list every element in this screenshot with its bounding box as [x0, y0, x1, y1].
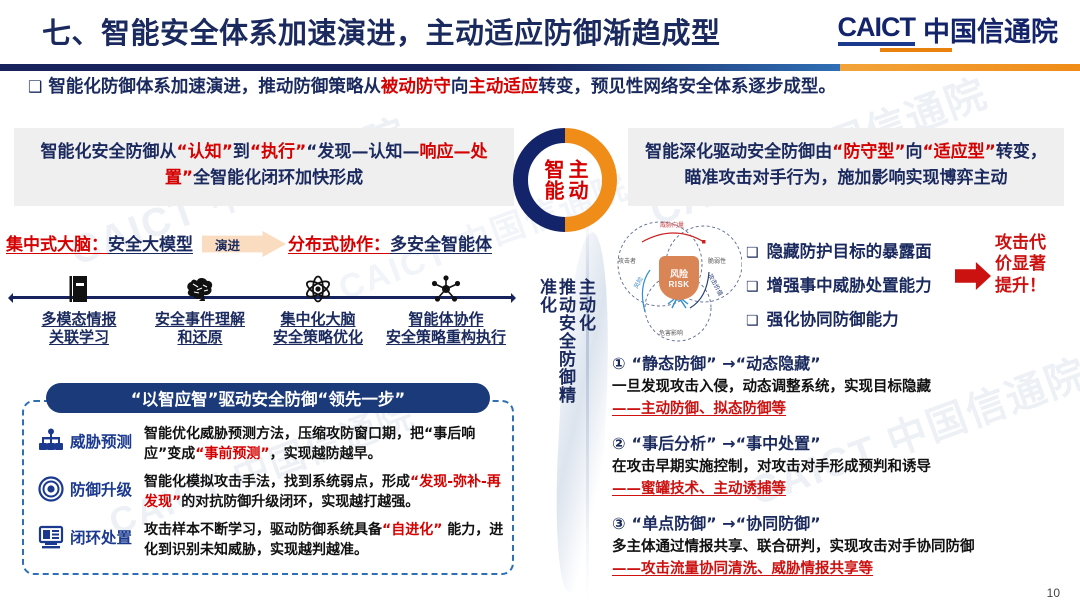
defense-row-1-tag: 威胁预测 — [70, 424, 144, 452]
evolution-right-heading: 分布式协作：多安全智能体 — [288, 230, 492, 255]
logo-cn-text: 中国信通院 — [923, 19, 1058, 46]
timeline-label-3-line1: 集中化大脑 — [280, 310, 355, 328]
left-box-text-d: 全智能化闭环加快形成 — [193, 168, 363, 188]
timeline-label-1: 多模态情报 关联学习 — [14, 310, 144, 346]
numbered-block-2-head: ②“事后分析” →“事中处置” — [612, 430, 1080, 454]
logo-underline-accent — [880, 48, 952, 52]
numbered-block-2-body: 在攻击早期实施控制，对攻击对手形成预判和诱导 — [612, 457, 1080, 478]
evolution-left-heading: 集中式大脑：安全大模型 — [6, 230, 193, 255]
defense-row-3-text-a: 攻击样本不断学习，驱动防御系统具备 — [144, 522, 382, 538]
checklist-item-2: ❑增强事中威胁处置能力 — [746, 272, 932, 296]
numbered-block-1-foot: ——主动防御、拟态防御等 — [612, 399, 1080, 419]
right-box-red-1: “防守型” — [832, 142, 905, 162]
venn-center-risk: 风险 RISK — [659, 256, 699, 300]
logo-en-text: CAICT — [838, 14, 916, 46]
checklist-item-3: ❑强化协同防御能力 — [746, 306, 899, 330]
defense-row-3-tag: 闭环处置 — [70, 520, 144, 548]
evolution-arrow: 演进 — [202, 231, 286, 257]
checklist-item-3-label: 强化协同防御能力 — [767, 310, 899, 329]
defense-row-2-text: 智能化模拟攻击手法，找到系统弱点，形成“发现-弥补-再发现”的对抗防御升级闭环，… — [144, 472, 510, 513]
numbered-block-2: ②“事后分析” →“事中处置” 在攻击早期实施控制，对攻击对手形成预判和诱导 —… — [612, 430, 1080, 499]
right-box-red-2: “适应型” — [923, 142, 996, 162]
callout-line-2: 价显著 — [995, 254, 1046, 274]
page-number: 10 — [1047, 586, 1060, 600]
target-icon — [32, 472, 70, 502]
timeline-label-2-line2: 和还原 — [177, 328, 222, 346]
venn-risk-cn: 风险 — [670, 267, 688, 280]
numbered-block-2-number: ② — [612, 434, 626, 453]
arrow-right-icon: → — [722, 434, 735, 453]
evolution-right-key: 分布式协作： — [288, 235, 390, 255]
monitor-icon — [32, 520, 70, 550]
vertical-caption-col2: 主动化 — [575, 278, 594, 408]
numbered-block-1-to: “动态隐藏” — [736, 354, 821, 373]
checkbox-icon: ❑ — [746, 279, 759, 295]
timeline-item-2: 安全事件理解 和还原 — [135, 274, 265, 346]
defense-row-2-text-a: 智能化模拟攻击手法，找到系统弱点，形成 — [144, 474, 410, 490]
numbered-block-3-foot: ——攻击流量协同清洗、威胁情报共享等 — [612, 559, 1080, 579]
ring-label-proactive: 主动 — [567, 159, 587, 201]
center-ring-graphic: 智能 主动 — [513, 128, 617, 232]
numbered-block-2-foot: ——蜜罐技术、主动诱捕等 — [612, 479, 1080, 499]
checklist-item-2-label: 增强事中威胁处置能力 — [767, 276, 932, 295]
caict-logo: CAICT 中国信通院 — [838, 14, 1059, 46]
right-box-text-a: 智能深化驱动安全防御由 — [645, 142, 832, 162]
ring-label-group: 智能 主动 — [513, 128, 617, 232]
brain-icon — [135, 274, 265, 304]
defense-row-threat-prediction: 威胁预测 智能优化威胁预测方法，压缩攻防窗口期，把“事后响应”变成“事前预测”，… — [32, 424, 510, 465]
evolution-left-value: 安全大模型 — [108, 235, 193, 255]
header-divider — [0, 64, 1080, 71]
timeline-label-1-line2: 关联学习 — [49, 328, 109, 346]
subtitle-highlight-2: 主动适应 — [468, 77, 538, 97]
atom-icon — [253, 274, 383, 304]
timeline-item-1: 多模态情报 关联学习 — [14, 274, 144, 346]
network-icon — [375, 274, 517, 304]
subtitle-part2: 转变，预见性网络安全体系逐步成型。 — [538, 77, 836, 97]
left-box-red-2: “执行” — [250, 142, 306, 162]
timeline-label-2: 安全事件理解 和还原 — [135, 310, 265, 346]
left-box-text-c: “发现—认知— — [306, 142, 419, 162]
server-icon — [14, 274, 144, 304]
timeline-label-3-line2: 安全策略优化 — [273, 328, 363, 346]
timeline-label-4-line2: 安全策略重构执行 — [386, 328, 506, 346]
checkbox-icon: ❑ — [746, 245, 759, 261]
evolution-right-value: 多安全智能体 — [390, 235, 492, 255]
callout-line-3: 提升！ — [995, 276, 1046, 296]
red-arrow-icon — [955, 262, 991, 290]
risk-venn-diagram: 风险 RISK 攻击者 脆弱性 危害影响 威胁向量 风险 攻击价值 — [612, 216, 742, 344]
defense-row-2-tag: 防御升级 — [70, 472, 144, 500]
vertical-caption: 推动安全防御精准化 主动化 — [519, 278, 611, 408]
left-box-red-1: “认知” — [177, 142, 233, 162]
callout-line-1: 攻击代 — [995, 233, 1046, 253]
timeline-label-4: 智能体协作 安全策略重构执行 — [375, 310, 517, 346]
evolution-left-key: 集中式大脑： — [6, 235, 108, 255]
venn-arc-label-threat-vector: 威胁向量 — [660, 220, 684, 229]
venn-label-impact: 危害影响 — [659, 328, 683, 337]
red-arrow-shape — [955, 262, 991, 290]
checklist-item-1: ❑隐藏防护目标的暴露面 — [746, 238, 932, 262]
numbered-block-1: ①“静态防御” →“动态隐藏” 一旦发现攻击入侵，动态调整系统，实现目标隐藏 —… — [612, 350, 1080, 419]
attack-cost-callout: 攻击代 价显著 提升！ — [995, 233, 1077, 297]
left-box-text-b: 到 — [233, 142, 250, 162]
numbered-block-3-to: “协同防御” — [736, 514, 821, 533]
venn-label-attacker: 攻击者 — [618, 256, 636, 265]
checklist-item-1-label: 隐藏防护目标的暴露面 — [767, 242, 932, 261]
org-chart-icon — [32, 424, 70, 454]
right-box-text-c: 转 — [996, 142, 1013, 162]
defense-row-3-text: 攻击样本不断学习，驱动防御系统具备“自进化” 能力，进化到识别未知威胁，实现越判… — [144, 520, 510, 561]
numbered-block-3-number: ③ — [612, 514, 626, 533]
numbered-block-2-to: “事中处置” — [736, 434, 821, 453]
left-summary-box: 智能化安全防御从“认知”到“执行”“发现—认知—响应—处置”全智能化闭环加快形成 — [14, 128, 514, 206]
right-summary-box: 智能深化驱动安全防御由“防守型”向“适应型”转变，瞄准攻击对手行为，施加影响实现… — [628, 128, 1064, 206]
timeline-label-4-line1: 智能体协作 — [408, 310, 483, 328]
numbered-block-2-from: “事后分析” — [632, 434, 717, 453]
smart-defense-band-title: “以智应智”驱动安全防御“领先一步” — [46, 383, 490, 413]
timeline-item-4: 智能体协作 安全策略重构执行 — [375, 274, 517, 346]
evolution-arrow-label: 演进 — [202, 231, 286, 257]
timeline-item-3: 集中化大脑 安全策略优化 — [253, 274, 383, 346]
left-box-text-a: 智能化安全防御从 — [41, 142, 177, 162]
ring-label-intelligence: 智能 — [543, 159, 563, 201]
numbered-block-3-from: “单点防御” — [632, 514, 717, 533]
slide-canvas: CAICT 中国信通院 CAICT 中国信通院 CAICT 中国信通院 CAIC… — [0, 0, 1080, 608]
vertical-caption-col1: 推动安全防御精准化 — [536, 278, 574, 408]
checkbox-icon: ❑ — [746, 313, 759, 329]
timeline-label-1-line1: 多模态情报 — [41, 310, 116, 328]
numbered-block-3-head: ③“单点防御” →“协同防御” — [612, 510, 1080, 534]
square-bullet-icon: ❑ — [28, 77, 42, 96]
venn-risk-en: RISK — [668, 280, 689, 289]
numbered-block-3-body: 多主体通过情报共享、联合研判，实现攻击对手协同防御 — [612, 537, 1080, 558]
numbered-block-1-body: 一旦发现攻击入侵，动态调整系统，实现目标隐藏 — [612, 377, 1080, 398]
defense-row-1-text-b: ，实现越防越早。 — [270, 446, 382, 462]
divider-orange-segment — [840, 64, 1080, 71]
subtitle-highlight-1: 被动防守 — [381, 77, 451, 97]
right-box-text-b: 向 — [906, 142, 923, 162]
divider-navy-segment — [0, 64, 840, 71]
subtitle-line: ❑智能化防御体系加速演进，推动防御策略从被动防守向主动适应转变，预见性网络安全体… — [28, 76, 1058, 99]
defense-row-1-text: 智能优化威胁预测方法，压缩攻防窗口期，把“事后响应”变成“事前预测”，实现越防越… — [144, 424, 510, 465]
defense-row-3-text-red: “自进化” — [382, 522, 442, 538]
arrow-right-icon: → — [722, 354, 735, 373]
numbered-block-1-number: ① — [612, 354, 626, 373]
numbered-block-1-from: “静态防御” — [632, 354, 717, 373]
subtitle-part1: 智能化防御体系加速演进，推动防御策略从 — [48, 77, 381, 97]
subtitle-mid: 向 — [451, 77, 469, 97]
arrow-right-icon: → — [722, 514, 735, 533]
page-title: 七、智能安全体系加速演进，主动适应防御渐趋成型 — [42, 10, 721, 52]
numbered-block-3: ③“单点防御” →“协同防御” 多主体通过情报共享、联合研判，实现攻击对手协同防… — [612, 510, 1080, 579]
defense-row-2-text-b: 的对抗防御升级闭环，实现越打越强。 — [181, 494, 419, 510]
timeline-label-2-line1: 安全事件理解 — [155, 310, 245, 328]
numbered-block-1-head: ①“静态防御” →“动态隐藏” — [612, 350, 1080, 374]
venn-label-vulnerability: 脆弱性 — [708, 256, 726, 265]
defense-row-defense-upgrade: 防御升级 智能化模拟攻击手法，找到系统弱点，形成“发现-弥补-再发现”的对抗防御… — [32, 472, 510, 513]
timeline-label-3: 集中化大脑 安全策略优化 — [253, 310, 383, 346]
defense-row-closed-loop: 闭环处置 攻击样本不断学习，驱动防御系统具备“自进化” 能力，进化到识别未知威胁… — [32, 520, 510, 561]
defense-row-1-text-red: “事前预测” — [195, 446, 269, 462]
